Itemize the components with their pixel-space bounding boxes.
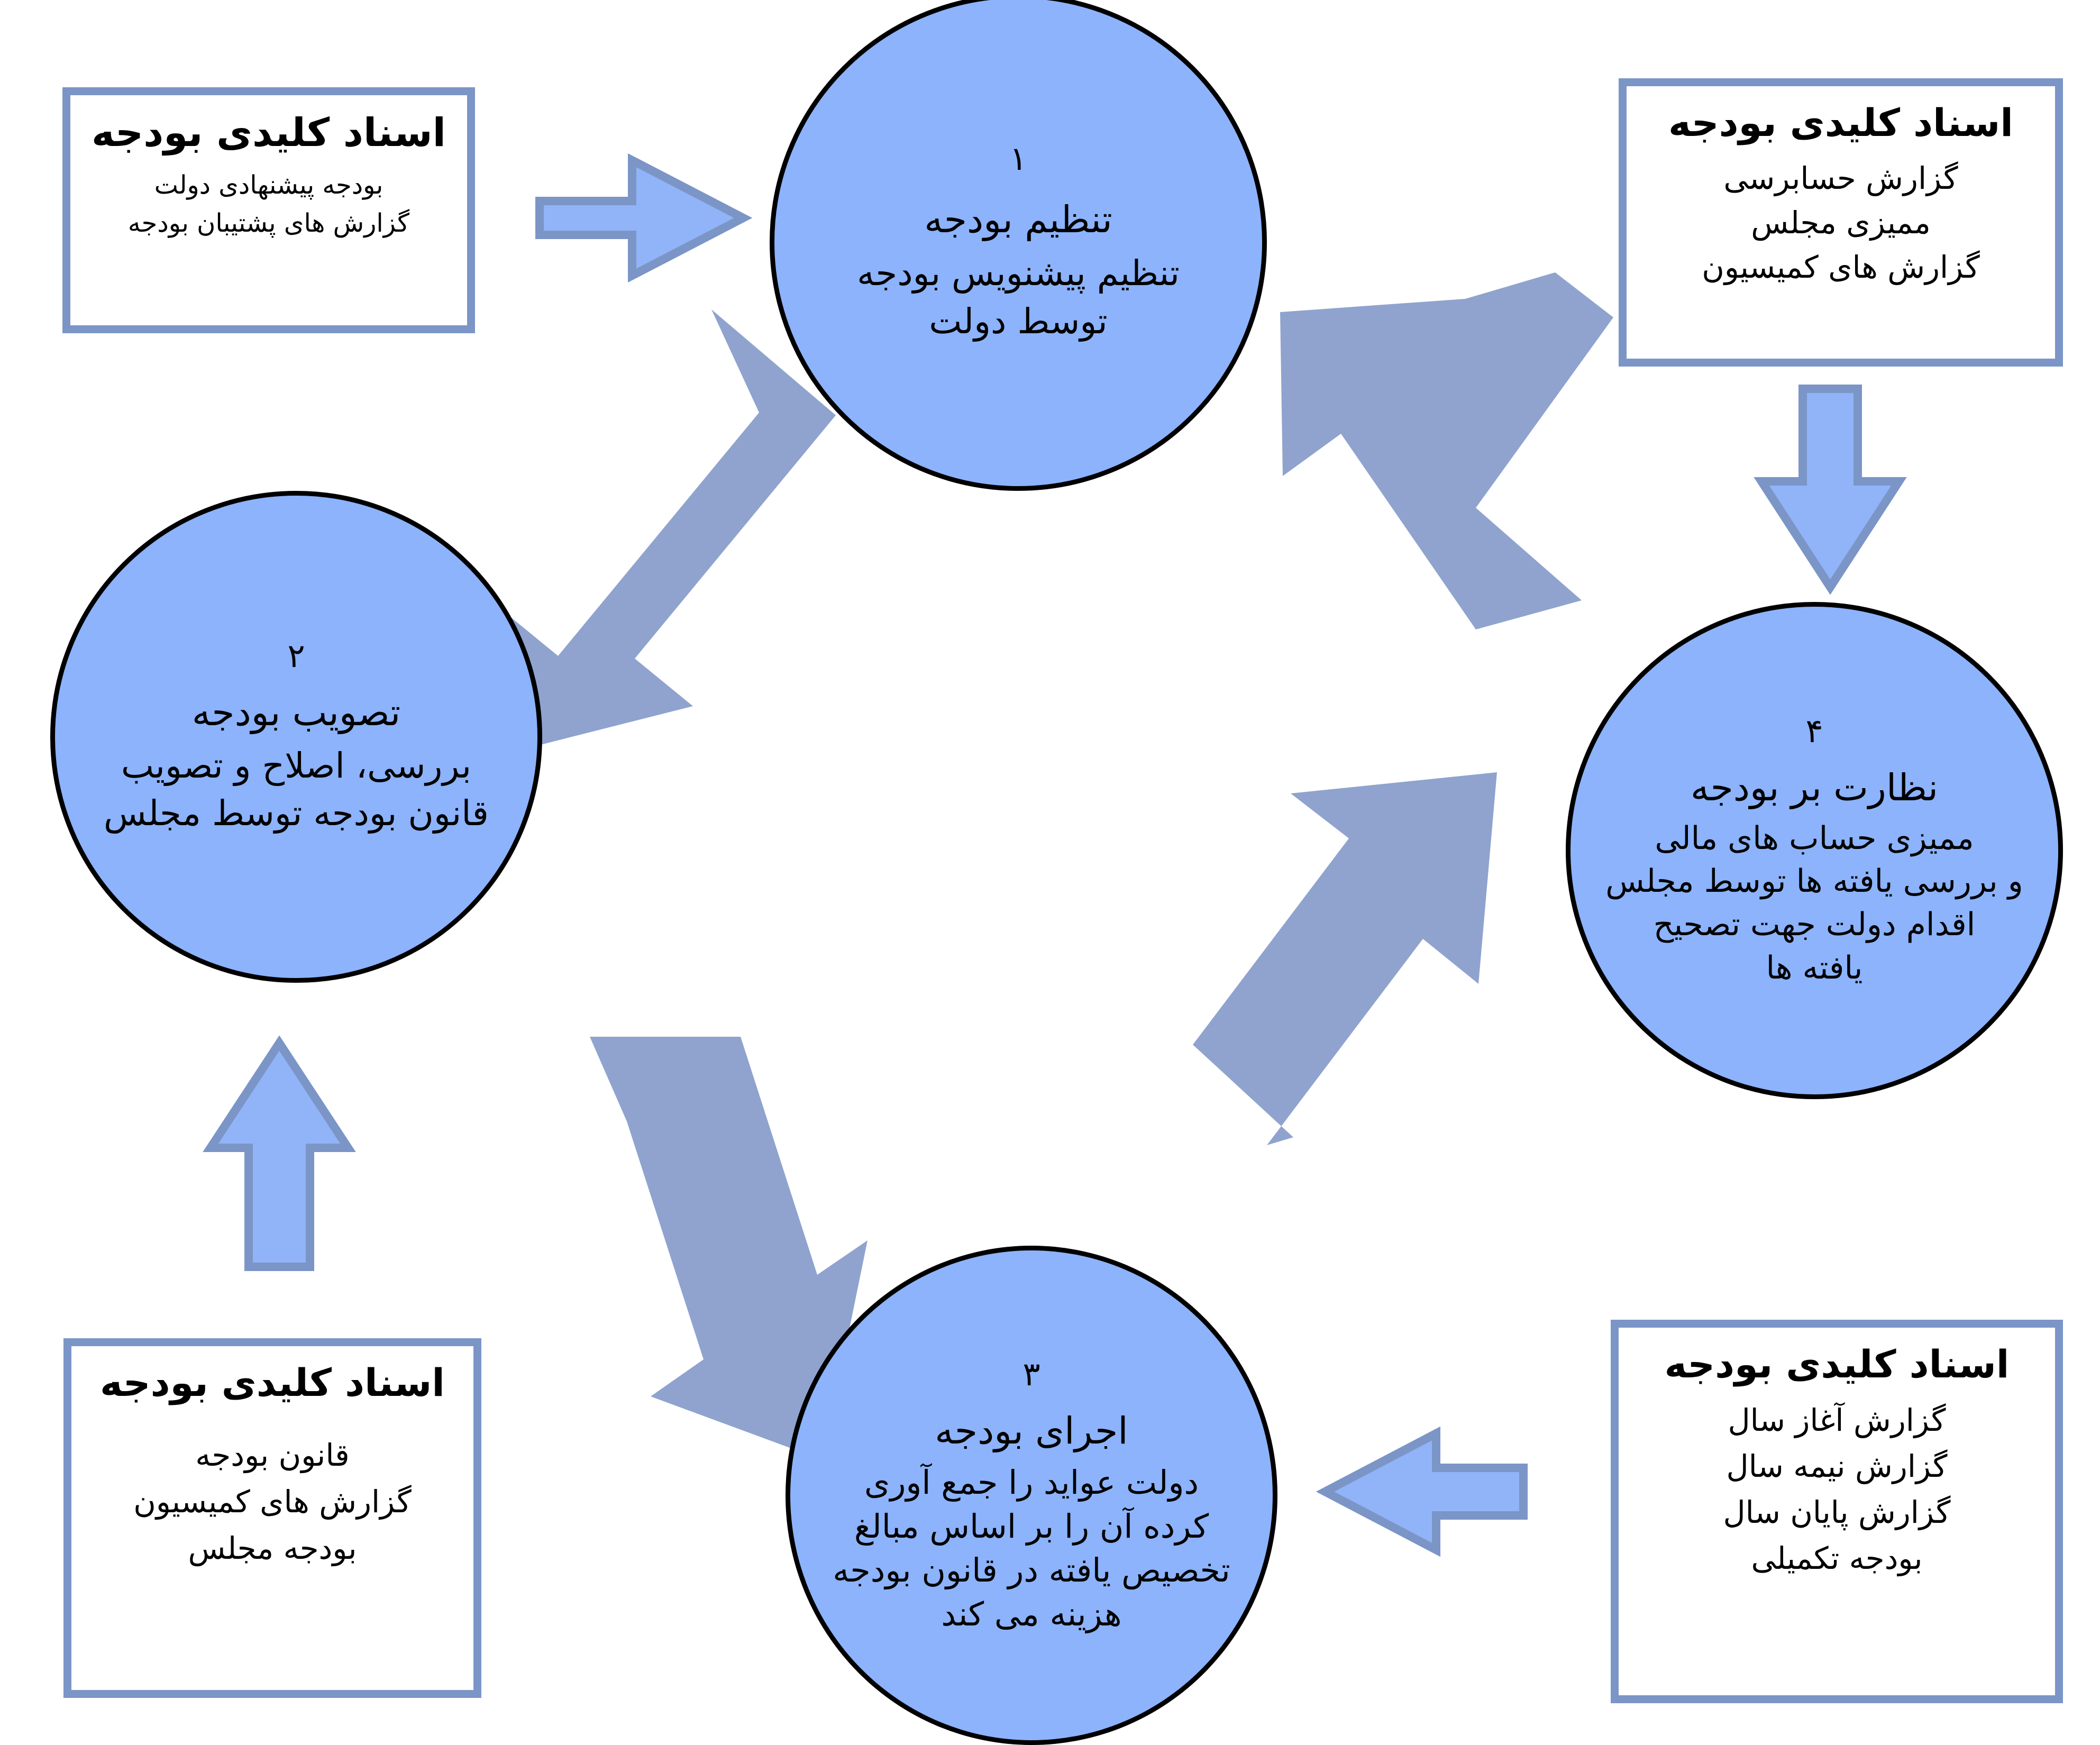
node3-line-0: دولت عواید را جمع آوری bbox=[833, 1460, 1230, 1504]
box-bl-line-2: بودجه مجلس bbox=[188, 1525, 357, 1572]
box-tr-title: اسناد کلیدی بودجه bbox=[1668, 100, 2013, 147]
diagram-canvas: ۱ تنظیم بودجه تنظیم پیشنویس بودجه توسط د… bbox=[0, 0, 2100, 1745]
node2-body: بررسی، اصلاح و تصویب قانون بودجه توسط مج… bbox=[104, 742, 489, 837]
arrow-node3-to-node4-icon bbox=[1193, 772, 1497, 1145]
node3-body: دولت عواید را جمع آوری کرده آن را بر اسا… bbox=[833, 1460, 1230, 1636]
key-documents-box-formulation[interactable]: اسناد کلیدی بودجه بودجه پیشنهادی دولت گز… bbox=[62, 87, 475, 333]
box-br-line-1: گزارش نیمه سال bbox=[1726, 1443, 1947, 1490]
arrow-node1-to-node2-icon bbox=[495, 309, 836, 756]
node1-line-0: تنظیم پیشنویس بودجه bbox=[857, 249, 1180, 297]
node3-number: ۳ bbox=[1022, 1355, 1040, 1393]
node2-line-1: قانون بودجه توسط مجلس bbox=[104, 790, 489, 837]
node3-line-2: تخصیص یافته در قانون بودجه bbox=[833, 1548, 1230, 1592]
key-documents-box-oversight[interactable]: اسناد کلیدی بودجه گزارش حسابرسی ممیزی مج… bbox=[1619, 78, 2063, 367]
node4-line-1: و بررسی یافته ها توسط مجلس bbox=[1605, 860, 2023, 903]
arrow-br-to-node3-icon bbox=[1325, 1433, 1523, 1550]
key-documents-box-execution[interactable]: اسناد کلیدی بودجه گزارش آغاز سال گزارش ن… bbox=[1611, 1320, 2063, 1703]
node1-number: ۱ bbox=[1009, 139, 1027, 178]
node4-line-3: یافته ها bbox=[1605, 947, 2023, 990]
node4-line-0: ممیزی حساب های مالی bbox=[1605, 817, 2023, 861]
arrow-tl-to-node1-icon bbox=[540, 160, 743, 276]
node2-title: تصویب بودجه bbox=[192, 689, 400, 737]
box-tr-line-2: گزارش های کمیسیون bbox=[1702, 245, 1980, 289]
node1-body: تنظیم پیشنویس بودجه توسط دولت bbox=[857, 249, 1180, 345]
arrow-node4-to-node1-icon bbox=[1280, 272, 1613, 629]
node3-line-3: هزینه می کند bbox=[833, 1592, 1230, 1636]
box-br-line-0: گزارش آغاز سال bbox=[1728, 1397, 1946, 1443]
box-bl-line-0: قانون بودجه bbox=[195, 1432, 349, 1478]
node4-title: نظارت بر بودجه bbox=[1691, 764, 1938, 812]
box-bl-title: اسناد کلیدی بودجه bbox=[100, 1360, 445, 1406]
box-tl-line-1: گزارش های پشتیبان بودجه bbox=[128, 204, 409, 242]
node-budget-execution[interactable]: ۳ اجرای بودجه دولت عواید را جمع آوری کرد… bbox=[786, 1246, 1277, 1745]
box-tr-line-1: ممیزی مجلس bbox=[1751, 200, 1931, 245]
box-tr-line-0: گزارش حسابرسی bbox=[1723, 156, 1958, 200]
node3-title: اجرای بودجه bbox=[935, 1407, 1128, 1455]
box-br-line-3: بودجه تکمیلی bbox=[1751, 1536, 1922, 1582]
box-br-line-2: گزارش پایان سال bbox=[1723, 1490, 1950, 1536]
node4-line-2: اقدام دولت جهت تصحیح bbox=[1605, 903, 2023, 947]
node-budget-approval[interactable]: ۲ تصویب بودجه بررسی، اصلاح و تصویب قانون… bbox=[50, 491, 542, 983]
node2-line-0: بررسی، اصلاح و تصویب bbox=[104, 742, 489, 790]
node1-title: تنظیم بودجه bbox=[924, 196, 1112, 244]
node4-body: ممیزی حساب های مالی و بررسی یافته ها توس… bbox=[1605, 817, 2023, 990]
node1-line-1: توسط دولت bbox=[857, 297, 1180, 345]
node-budget-formulation[interactable]: ۱ تنظیم بودجه تنظیم پیشنویس بودجه توسط د… bbox=[770, 0, 1267, 491]
node4-number: ۴ bbox=[1805, 711, 1823, 750]
node-budget-oversight[interactable]: ۴ نظارت بر بودجه ممیزی حساب های مالی و ب… bbox=[1566, 602, 2063, 1099]
arrow-bl-to-node2-icon bbox=[211, 1043, 348, 1267]
box-br-title: اسناد کلیدی بودجه bbox=[1665, 1341, 2010, 1388]
node2-number: ۲ bbox=[287, 636, 305, 675]
box-bl-line-1: گزارش های کمیسیون bbox=[133, 1478, 412, 1525]
node3-line-1: کرده آن را بر اساس مبالغ bbox=[833, 1504, 1230, 1548]
box-tl-line-0: بودجه پیشنهادی دولت bbox=[154, 166, 384, 204]
arrow-tr-to-node4-icon bbox=[1761, 389, 1899, 587]
key-documents-box-approval[interactable]: اسناد کلیدی بودجه قانون بودجه گزارش های … bbox=[63, 1338, 481, 1698]
box-tl-title: اسناد کلیدی بودجه bbox=[92, 109, 446, 157]
